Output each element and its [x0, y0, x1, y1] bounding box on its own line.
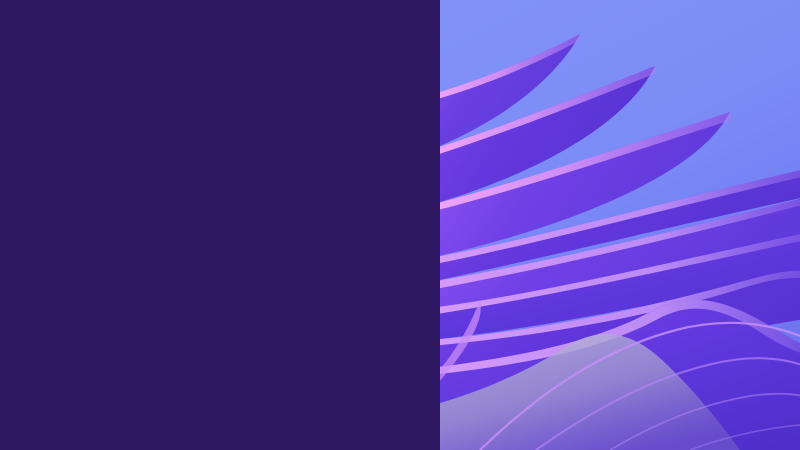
artwork-panel — [440, 0, 800, 450]
content-panel — [0, 0, 440, 450]
dell-technologies-promo-banner: Technologies Build your next AI breakthr… — [0, 0, 800, 450]
abstract-ribbons-graphic — [440, 0, 800, 450]
